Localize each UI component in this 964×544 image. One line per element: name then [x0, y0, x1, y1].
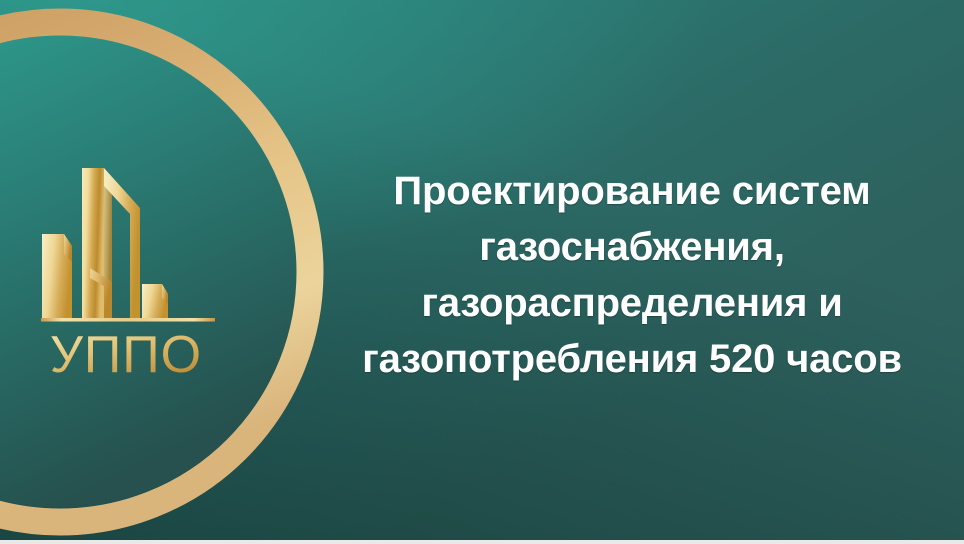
title-line-2: газоснабжения, [306, 219, 958, 275]
logo-acronym: УППО [50, 326, 202, 384]
presentation-slide: УППО Проектирование систем газоснабжения… [0, 0, 964, 544]
title-line-3: газораспределения и [306, 275, 958, 331]
logo-buildings [42, 168, 168, 320]
slide-bottom-edge [0, 540, 964, 544]
slide-title: Проектирование систем газоснабжения, газ… [306, 163, 958, 387]
title-line-1: Проектирование систем [306, 163, 958, 219]
title-line-4: газопотребления 520 часов [306, 331, 958, 387]
logo: УППО [30, 150, 226, 390]
logo-underline [41, 318, 215, 322]
